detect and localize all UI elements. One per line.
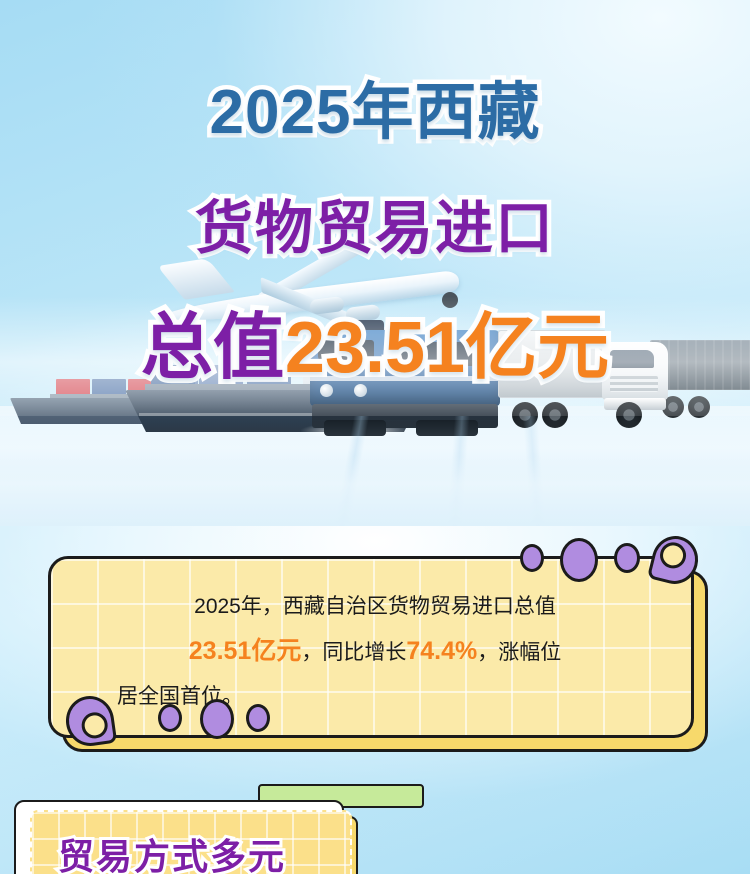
- card-text-part-2: ，同比增长: [301, 641, 406, 664]
- airplane-tail: [157, 258, 235, 299]
- card-body: 2025年，西藏自治区货物贸易进口总值23.51亿元，同比增长74.4%，涨幅位…: [48, 556, 694, 738]
- decorative-dot-icon: [246, 704, 270, 732]
- decorative-dot-icon: [200, 699, 234, 739]
- headline-line-1: 2025年西藏: [0, 82, 750, 144]
- card-text-part-3: ，涨幅位: [477, 641, 561, 664]
- headline-total-value: 23.51亿元: [285, 308, 609, 388]
- card-highlight-value: 23.51亿元: [189, 637, 302, 665]
- decorative-dot-icon: [520, 544, 544, 572]
- card-text: 2025年，西藏自治区货物贸易进口总值23.51亿元，同比增长74.4%，涨幅位…: [87, 585, 663, 719]
- decorative-dot-icon: [614, 543, 640, 573]
- card-text-part-1: 2025年，西藏自治区货物贸易进口总值: [194, 595, 556, 618]
- summary-card: 2025年，西藏自治区货物贸易进口总值23.51亿元，同比增长74.4%，涨幅位…: [48, 556, 708, 752]
- decorative-dot-icon: [560, 538, 598, 582]
- ground-reflection: [0, 456, 750, 526]
- decorative-dot-icon: [158, 704, 182, 732]
- headline-line-3: 总值23.51亿元: [0, 312, 750, 384]
- section-title: 贸易方式多元: [58, 828, 286, 874]
- headline-line-2: 货物贸易进口: [0, 200, 750, 258]
- headline-total-label: 总值: [141, 308, 285, 388]
- infographic-poster: 2025年西藏 货物贸易进口 总值23.51亿元 2025年，西藏自治区货物贸易…: [0, 0, 750, 874]
- section-card: 贸易方式多元: [14, 792, 714, 874]
- card-highlight-growth: 74.4%: [406, 637, 477, 665]
